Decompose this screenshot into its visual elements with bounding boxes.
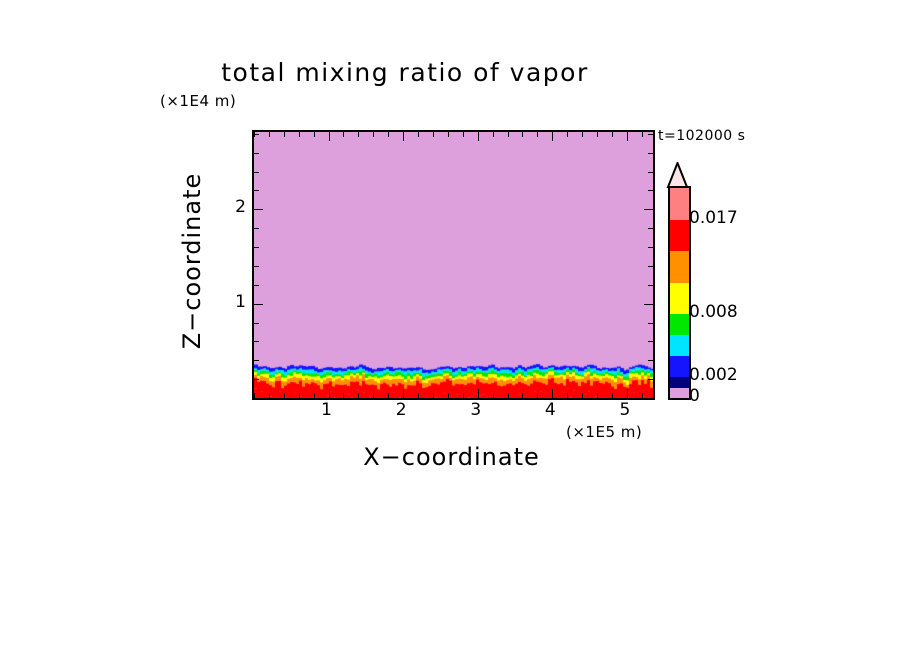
tick-mark — [537, 393, 538, 398]
colorbar-extend-arrow — [666, 162, 689, 188]
chart-title-text: total mixing ratio of vapor — [221, 58, 589, 87]
colorbar-band — [670, 377, 689, 388]
heatmap-field — [254, 132, 653, 398]
tick-mark — [537, 132, 538, 137]
colorbar-tick-label: 0.008 — [689, 302, 738, 322]
tick-mark — [373, 132, 374, 137]
tick-mark — [254, 134, 259, 135]
y-axis-tick-labels: 12 — [210, 130, 246, 396]
tick-mark — [254, 228, 259, 229]
tick-mark — [269, 132, 270, 137]
y-axis-unit-label: (×1E4 m) — [160, 92, 236, 110]
tick-mark — [552, 132, 553, 141]
colorbar-band — [670, 356, 689, 377]
tick-mark — [648, 341, 653, 342]
tick-mark — [522, 393, 523, 398]
tick-mark — [388, 393, 389, 398]
tick-mark — [648, 285, 653, 286]
tick-mark — [508, 393, 509, 398]
tick-mark — [254, 360, 259, 361]
colorbar-band — [670, 314, 689, 335]
tick-mark — [648, 190, 653, 191]
tick-mark — [403, 132, 404, 141]
tick-mark — [644, 209, 653, 210]
tick-mark — [254, 153, 259, 154]
tick-mark — [254, 209, 263, 210]
tick-mark — [582, 393, 583, 398]
tick-mark — [254, 190, 259, 191]
x-tick-label: 3 — [470, 400, 481, 420]
tick-mark — [597, 132, 598, 137]
tick-mark — [329, 389, 330, 398]
tick-mark — [299, 132, 300, 137]
tick-mark — [463, 393, 464, 398]
tick-mark — [433, 132, 434, 137]
colorbar-tick-label: 0 — [689, 386, 700, 406]
tick-mark — [522, 132, 523, 137]
tick-mark — [448, 393, 449, 398]
tick-mark — [254, 266, 259, 267]
tick-mark — [254, 341, 259, 342]
tick-mark — [478, 389, 479, 398]
y-tick-label: 2 — [235, 197, 246, 217]
tick-mark — [299, 393, 300, 398]
tick-mark — [358, 393, 359, 398]
tick-mark — [463, 132, 464, 137]
colorbar-band — [670, 388, 689, 399]
tick-mark — [648, 247, 653, 248]
tick-mark — [648, 134, 653, 135]
tick-mark — [478, 132, 479, 141]
tick-mark — [627, 132, 628, 141]
tick-mark — [314, 132, 315, 137]
tick-mark — [373, 393, 374, 398]
chart-title: total mixing ratio of vapor — [0, 58, 904, 87]
tick-mark — [642, 393, 643, 398]
figure-canvas: total mixing ratio of vapor (×1E4 m) t=1… — [0, 0, 904, 654]
tick-mark — [284, 393, 285, 398]
tick-mark — [648, 228, 653, 229]
tick-mark — [403, 389, 404, 398]
tick-mark — [648, 323, 653, 324]
colorbar-tick-label: 0.002 — [689, 365, 738, 385]
x-tick-label: 5 — [619, 400, 630, 420]
x-tick-label: 2 — [396, 400, 407, 420]
tick-mark — [254, 285, 259, 286]
tick-mark — [552, 389, 553, 398]
tick-mark — [269, 393, 270, 398]
tick-mark — [493, 393, 494, 398]
tick-mark — [597, 393, 598, 398]
tick-mark — [567, 132, 568, 137]
tick-mark — [254, 379, 259, 380]
tick-mark — [418, 132, 419, 137]
timestamp-label: t=102000 s — [658, 128, 745, 144]
tick-mark — [254, 398, 259, 399]
tick-mark — [648, 153, 653, 154]
tick-mark — [254, 323, 259, 324]
tick-mark — [254, 304, 263, 305]
tick-mark — [648, 266, 653, 267]
y-axis-label: Z−coordinate — [178, 141, 206, 381]
tick-mark — [388, 132, 389, 137]
tick-mark — [648, 379, 653, 380]
colorbar — [668, 186, 691, 400]
y-tick-label: 1 — [235, 292, 246, 312]
tick-mark — [493, 132, 494, 137]
tick-mark — [612, 132, 613, 137]
tick-mark — [448, 132, 449, 137]
tick-mark — [642, 132, 643, 137]
tick-mark — [254, 247, 259, 248]
x-tick-label: 4 — [545, 400, 556, 420]
tick-mark — [329, 132, 330, 141]
x-axis-tick-labels: 12345 — [252, 400, 651, 422]
colorbar-tick-label: 0.017 — [689, 208, 738, 228]
tick-mark — [567, 393, 568, 398]
tick-mark — [648, 398, 653, 399]
tick-mark — [343, 393, 344, 398]
tick-mark — [648, 172, 653, 173]
tick-mark — [343, 132, 344, 137]
tick-mark — [508, 132, 509, 137]
x-axis-unit-label: (×1E5 m) — [566, 423, 642, 441]
tick-mark — [358, 132, 359, 137]
colorbar-band — [670, 335, 689, 356]
x-axis-label: X−coordinate — [252, 443, 651, 471]
colorbar-band — [670, 220, 689, 252]
tick-mark — [612, 393, 613, 398]
colorbar-band — [670, 283, 689, 315]
plot-area — [252, 130, 655, 400]
x-tick-label: 1 — [321, 400, 332, 420]
tick-mark — [644, 304, 653, 305]
tick-mark — [418, 393, 419, 398]
tick-mark — [627, 389, 628, 398]
tick-mark — [648, 360, 653, 361]
colorbar-band — [670, 188, 689, 220]
tick-mark — [284, 132, 285, 137]
tick-mark — [433, 393, 434, 398]
tick-mark — [314, 393, 315, 398]
tick-mark — [582, 132, 583, 137]
tick-mark — [254, 172, 259, 173]
colorbar-band — [670, 251, 689, 283]
